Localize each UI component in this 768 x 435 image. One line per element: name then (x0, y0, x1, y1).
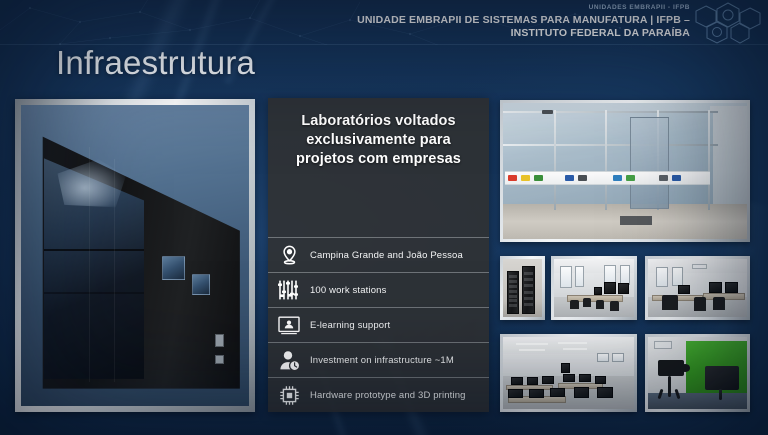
info-panel: Laboratórios voltados exclusivamente par… (268, 98, 489, 412)
header-kicker: UNIDADES EMBRAPII - IFPB (589, 4, 690, 11)
sliders-icon (276, 277, 302, 303)
presentation-screen-icon (276, 312, 302, 338)
photo-lab-desks (551, 256, 637, 320)
hexagon-network-logo-icon (692, 2, 764, 44)
feature-label: 100 work stations (310, 285, 386, 296)
feature-item-elearning[interactable]: E-learning support (268, 307, 489, 342)
feature-list: Campina Grande and João Pessoa (268, 237, 489, 412)
page-title: Infraestrutura (56, 44, 255, 82)
slide-header: UNIDADES EMBRAPII - IFPB UNIDADE EMBRAPI… (0, 0, 768, 45)
feature-label: Campina Grande and João Pessoa (310, 250, 463, 261)
photo-server-racks (500, 256, 545, 320)
location-pin-icon (276, 242, 302, 268)
microchip-icon (276, 382, 302, 408)
photo-glass-facade (500, 100, 750, 242)
photo-green-screen-studio (645, 334, 750, 412)
header-title: UNIDADE EMBRAPII DE SISTEMAS PARA MANUFA… (210, 14, 690, 40)
presentation-slide: UNIDADES EMBRAPII - IFPB UNIDADE EMBRAPI… (0, 0, 768, 435)
feature-item-hardware[interactable]: Hardware prototype and 3D printing (268, 377, 489, 412)
panel-heading: Laboratórios voltados exclusivamente par… (268, 98, 489, 169)
feature-label: E-learning support (310, 320, 390, 331)
photo-building (15, 99, 255, 412)
feature-item-investment[interactable]: Investment on infrastructure ~1M (268, 342, 489, 377)
person-clock-icon (276, 347, 302, 373)
photo-computer-lab (645, 256, 750, 320)
photo-computer-classroom (500, 334, 637, 412)
feature-label: Hardware prototype and 3D printing (310, 390, 466, 401)
feature-label: Investment on infrastructure ~1M (310, 355, 454, 366)
feature-item-workstations[interactable]: 100 work stations (268, 272, 489, 307)
feature-item-locations[interactable]: Campina Grande and João Pessoa (268, 237, 489, 272)
